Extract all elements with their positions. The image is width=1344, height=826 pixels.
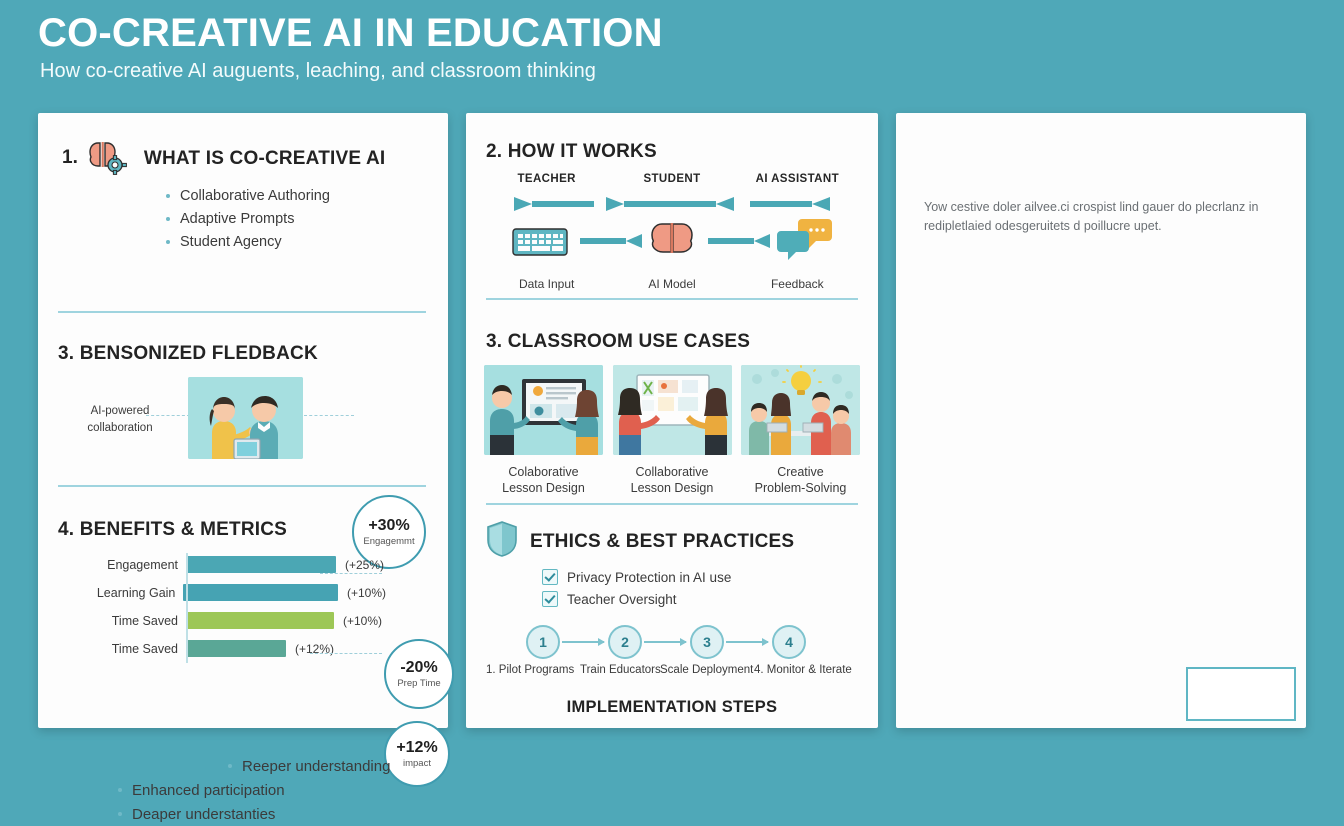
step-circle-1[interactable]: 1 <box>526 625 560 659</box>
flow-icons-row <box>484 217 860 275</box>
middle-column-card: 2. HOW IT WORKS TEACHER STUDENT AI ASSIS… <box>466 113 878 728</box>
bar-category-label: Time Saved <box>56 642 186 656</box>
flow-captions-row: Data Input AI Model Feedback <box>484 277 860 291</box>
status-badge-prep-time: -20% Prep Time <box>384 639 454 709</box>
section1-number: 1. <box>62 147 78 169</box>
flow-caption-ai-model: AI Model <box>609 277 734 291</box>
list-item: Deaper understanties <box>116 803 285 826</box>
badge-value: +12% <box>396 740 437 756</box>
caption-line1: Colaborative <box>508 465 578 479</box>
section1-title: WHAT IS CO-CREATIVE AI <box>144 148 386 170</box>
checklist-label: Privacy Protection in AI use <box>567 570 731 585</box>
poster-header: CO-CREATIVE AI IN EDUCATION How co-creat… <box>38 12 1308 83</box>
page-title: CO-CREATIVE AI IN EDUCATION <box>38 12 1308 54</box>
left-column-card: 1. WHA <box>38 113 448 728</box>
badge-value: -20% <box>400 660 437 676</box>
brain-icon <box>648 219 696 266</box>
bar-time-saved-1 <box>186 612 334 629</box>
caption-line2: Lesson Design <box>502 481 585 495</box>
step-circles-row: 1 2 3 4 <box>482 625 862 659</box>
chart-note-bullet: Reeper understanding <box>226 755 390 779</box>
list-item: Reeper understanding <box>226 755 390 779</box>
shield-icon <box>486 521 518 562</box>
divider <box>58 485 426 487</box>
role-arrows-row <box>484 193 860 215</box>
checkbox-checked-icon[interactable] <box>542 591 558 607</box>
divider <box>486 503 858 505</box>
dashed-connector-impact <box>310 653 382 655</box>
bar-learning-gain <box>183 584 338 601</box>
smartboard-lesson-photo <box>484 365 603 455</box>
keyboard-icon <box>512 221 568 266</box>
right-column-card: Yow cestive doler ailvee.ci crospist lin… <box>896 113 1306 728</box>
brain-gear-icon <box>84 139 130 177</box>
implementation-steps-title: IMPLEMENTATION STEPS <box>466 698 878 717</box>
checkbox-checked-icon[interactable] <box>542 569 558 585</box>
bar-time-saved-2 <box>186 640 286 657</box>
ethics-heading-row: ETHICS & BEST PRACTICES <box>486 521 794 562</box>
bar-category-label: Learning Gain <box>56 586 183 600</box>
table-row: Learning Gain (+10%) <box>56 581 386 604</box>
role-labels-row: TEACHER STUDENT AI ASSISTANT <box>484 173 860 185</box>
list-item: Student Agency <box>164 231 330 254</box>
step-arrow-1-icon <box>562 641 604 643</box>
step-caption-3: Scale Deployment <box>660 664 753 676</box>
step-arrow-3-icon <box>726 641 768 643</box>
dashed-connector-left <box>146 415 190 417</box>
section1-heading-row: 1. WHA <box>62 139 385 177</box>
checklist-label: Teacher Oversight <box>567 592 677 607</box>
caption-line1: Collaborative <box>636 465 709 479</box>
checklist-item[interactable]: Privacy Protection in AI use <box>542 569 731 585</box>
use-case-item: ColaborativeLesson Design <box>484 365 603 496</box>
flow-caption-data-input: Data Input <box>484 277 609 291</box>
empty-outlined-box <box>1186 667 1296 721</box>
step-captions-row: 1. Pilot Programs Train Educators Scale … <box>482 664 862 682</box>
bar-engagement <box>186 556 336 573</box>
bar-category-label: Engagement <box>56 558 186 572</box>
page-subtitle: How co-creative AI auguents, leaching, a… <box>40 60 1308 83</box>
section3-mid-title: 3. CLASSROOM USE CASES <box>486 331 750 353</box>
implementation-steps: 1 2 3 4 1. Pilot Programs Train Educator… <box>482 625 862 682</box>
ethics-checklist: Privacy Protection in AI use Teacher Ove… <box>542 569 731 613</box>
use-cases-grid: ColaborativeLesson Design <box>484 365 860 496</box>
dashed-connector-right <box>304 415 354 417</box>
role-label-ai-assistant: AI ASSISTANT <box>735 173 860 185</box>
list-item: Adaptive Prompts <box>164 208 330 231</box>
bar-value-label: (+25%) <box>345 558 384 572</box>
list-item: Enhanced participation <box>116 779 285 803</box>
flow-caption-feedback: Feedback <box>735 277 860 291</box>
badge-label: Prep Time <box>397 679 440 689</box>
use-case-caption: ColaborativeLesson Design <box>484 464 603 496</box>
badge-label: Engagemmt <box>363 537 414 547</box>
role-label-teacher: TEACHER <box>484 173 609 185</box>
step-circle-3[interactable]: 3 <box>690 625 724 659</box>
step-arrow-2-icon <box>644 641 686 643</box>
caption-line2: Lesson Design <box>631 481 714 495</box>
team-ideation-photo <box>741 365 860 455</box>
chart-axis <box>186 553 188 663</box>
role-label-student: STUDENT <box>609 173 734 185</box>
caption-line1: Creative <box>777 465 824 479</box>
badge-label: impact <box>403 759 431 769</box>
caption-line2: Problem-Solving <box>755 481 847 495</box>
use-case-item: CreativeProblem-Solving <box>741 365 860 496</box>
table-row: Time Saved (+12%) <box>56 637 386 660</box>
bar-value-label: (+10%) <box>343 614 382 628</box>
badge-value: +30% <box>368 518 409 534</box>
step-caption-4: 4. Monitor & Iterate <box>754 664 852 676</box>
status-badge-impact: +12% impact <box>384 721 450 787</box>
section5-title: ETHICS & BEST PRACTICES <box>530 531 794 553</box>
step-caption-2: Train Educators <box>580 664 661 676</box>
dashed-connector-prep <box>320 573 382 575</box>
section1-bullet-list: Collaborative Authoring Adaptive Prompts… <box>164 185 330 254</box>
use-case-caption: CollaborativeLesson Design <box>613 464 732 496</box>
divider <box>58 311 426 313</box>
step-circle-2[interactable]: 2 <box>608 625 642 659</box>
list-item: Collaborative Authoring <box>164 185 330 208</box>
bar-value-label: (+10%) <box>347 586 386 600</box>
section2-title: 2. HOW IT WORKS <box>486 141 657 163</box>
flow-arrow-2-icon <box>708 233 772 254</box>
placeholder-paragraph: Yow cestive doler ailvee.ci crospist lin… <box>924 198 1274 237</box>
flow-arrow-1-icon <box>580 233 644 254</box>
ai-powered-collaboration-photo <box>188 377 303 459</box>
divider <box>486 298 858 300</box>
bar-category-label: Time Saved <box>56 614 186 628</box>
benefits-bar-chart: Engagement (+25%) Learning Gain (+10%) T… <box>56 553 386 665</box>
section4-bullet-list: Enhanced participation Deaper understant… <box>116 779 285 826</box>
feedback-visual-stage: AI-powered collaboration <box>38 377 448 487</box>
section4-title: 4. BENEFITS & METRICS <box>58 519 287 541</box>
step-caption-1: 1. Pilot Programs <box>486 664 574 676</box>
step-circle-4[interactable]: 4 <box>772 625 806 659</box>
section3-left-title: 3. BENSONIZED FLEDBACK <box>58 343 318 365</box>
feedback-caption: AI-powered collaboration <box>70 403 170 436</box>
chat-bubbles-icon <box>776 217 834 268</box>
checklist-item[interactable]: Teacher Oversight <box>542 591 731 607</box>
table-row: Time Saved (+10%) <box>56 609 386 632</box>
use-case-item: CollaborativeLesson Design <box>613 365 732 496</box>
infographic-poster: CO-CREATIVE AI IN EDUCATION How co-creat… <box>0 0 1344 768</box>
whiteboard-planning-photo <box>613 365 732 455</box>
use-case-caption: CreativeProblem-Solving <box>741 464 860 496</box>
